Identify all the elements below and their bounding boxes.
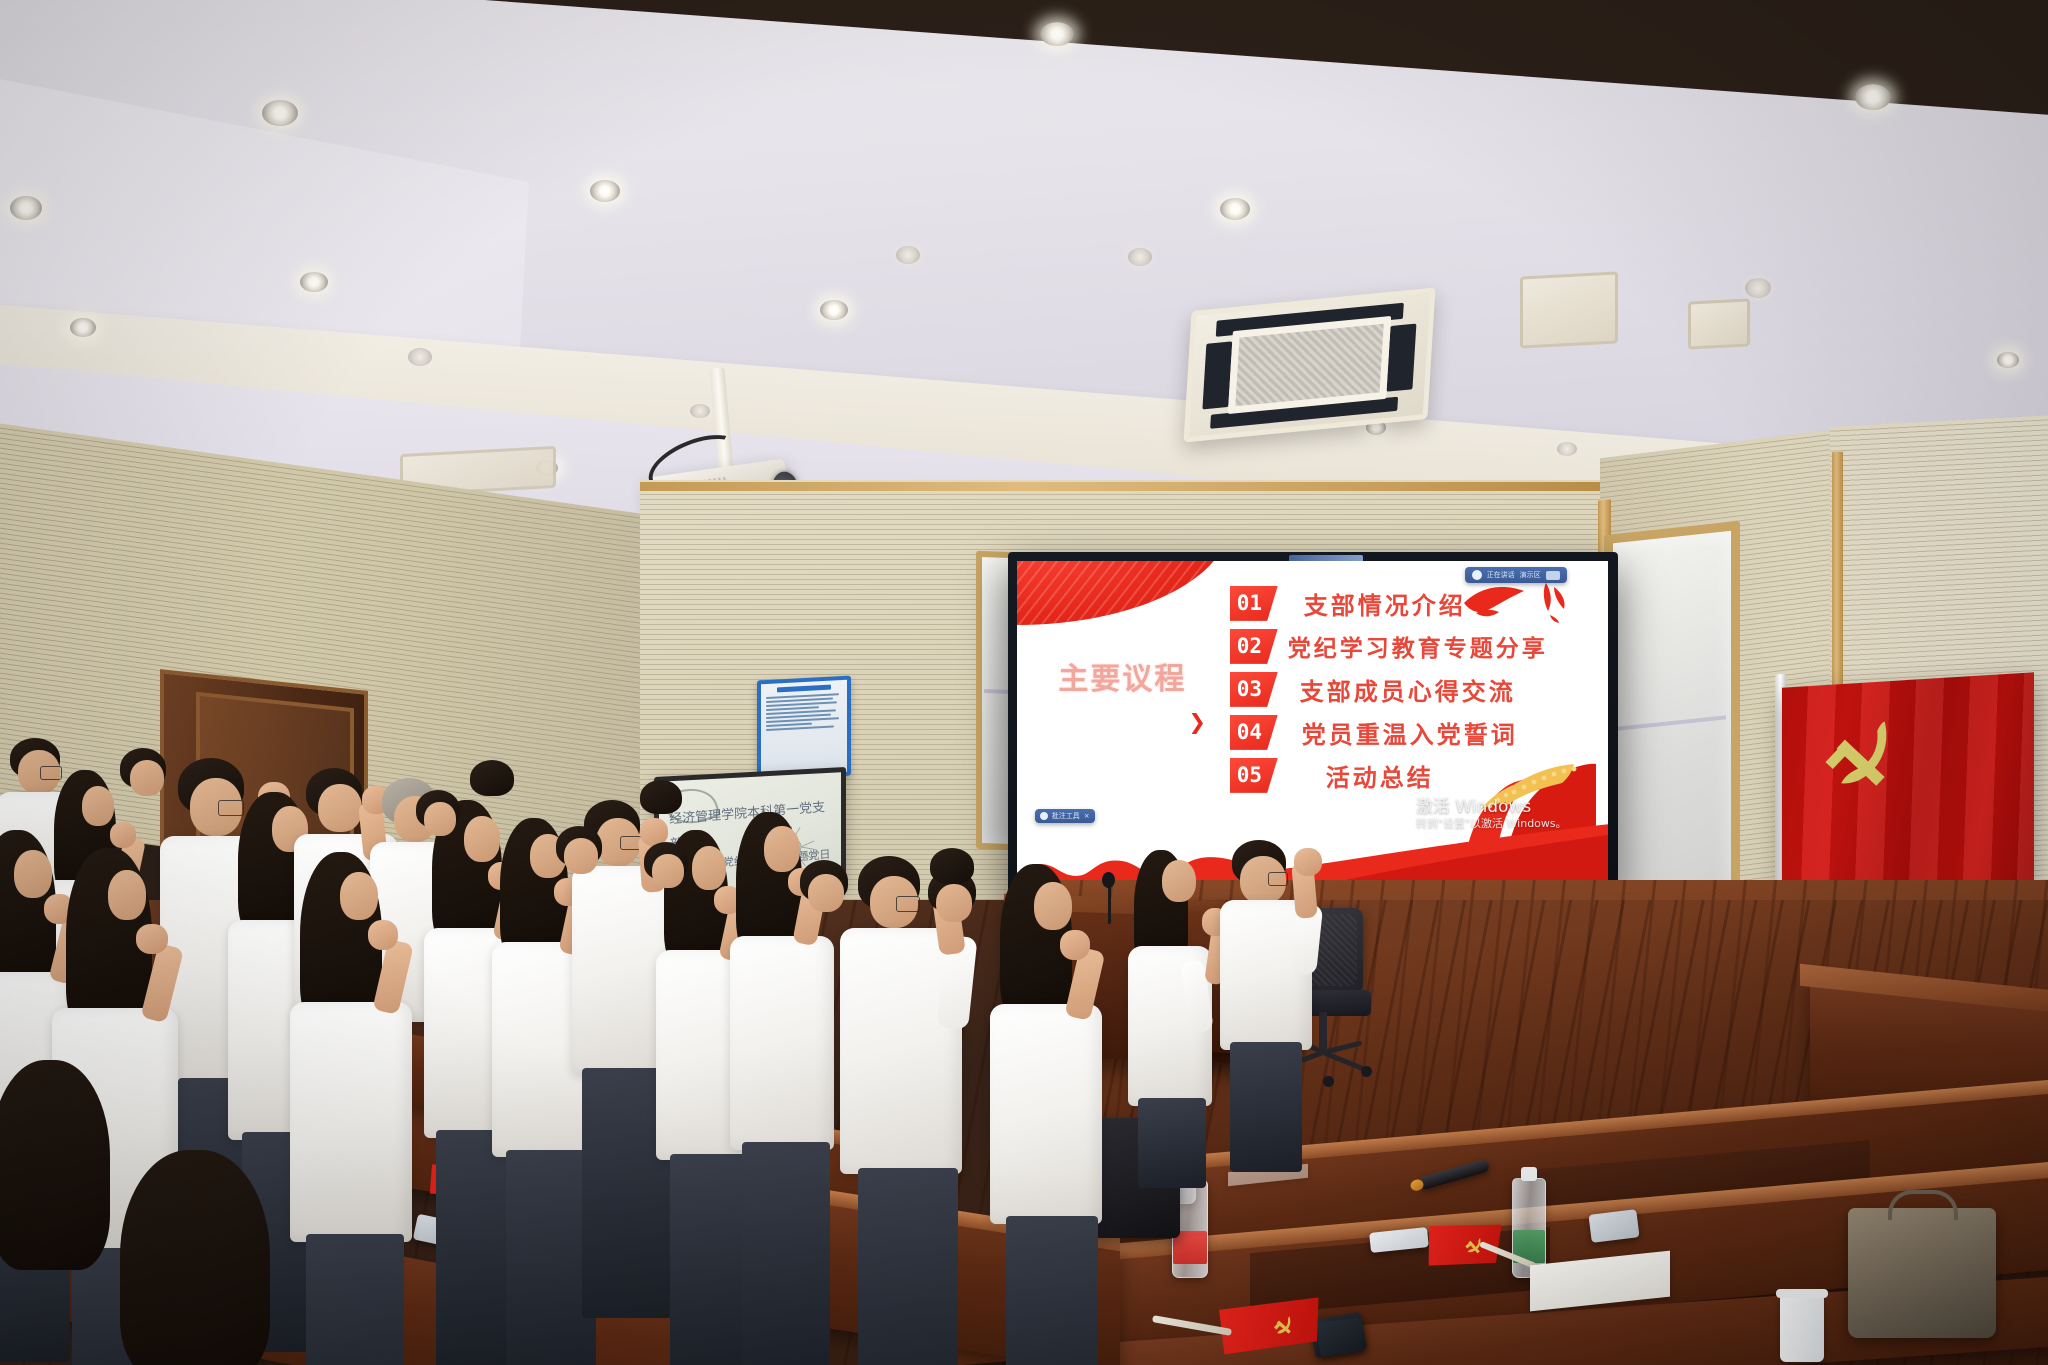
agenda-badge: 04 — [1230, 715, 1278, 750]
slide-heading: 主要议程 — [1058, 660, 1206, 701]
ceiling-downlight — [262, 100, 298, 126]
hair — [0, 1060, 110, 1270]
chair-leg — [1322, 1040, 1362, 1055]
legs — [306, 1234, 404, 1365]
ceiling-downlight — [1855, 84, 1891, 110]
hammer-and-sickle-icon — [1263, 1313, 1304, 1339]
notice-board-title — [777, 685, 832, 693]
chair-gas-post — [1319, 1012, 1327, 1052]
ac-vent — [1387, 323, 1417, 391]
led-presentation-screen[interactable]: 主要议程 ❯ 01 支部情况介绍 02 党纪学习教育专题分享 — [1008, 552, 1618, 892]
ceiling-downlight — [1040, 22, 1074, 46]
legs — [742, 1142, 830, 1365]
watermark-line-1: 激活 Windows — [1416, 798, 1567, 817]
ceiling-downlight — [820, 300, 848, 320]
notice-board — [757, 676, 851, 781]
ac-vent — [1202, 341, 1232, 409]
ceiling-speaker — [1520, 271, 1618, 348]
paper-cup[interactable] — [1780, 1296, 1824, 1362]
party-flag — [1782, 672, 2034, 897]
ceiling-downlight — [408, 348, 432, 366]
raised-fist — [136, 924, 168, 954]
head — [692, 846, 726, 890]
glasses-icon — [1268, 872, 1288, 886]
agenda-item: 03 支部成员心得交流 — [1230, 669, 1585, 709]
backpack-handle — [1888, 1190, 1958, 1220]
ceiling-downlight — [1557, 442, 1577, 456]
hair — [930, 848, 974, 884]
torso-white-shirt — [990, 1004, 1102, 1224]
toolbar-mic-label[interactable]: 正在讲话 — [1487, 570, 1515, 580]
mini-party-flag[interactable] — [1219, 1297, 1322, 1354]
hammer-and-sickle-icon — [1807, 709, 1918, 808]
slide-canvas: 主要议程 ❯ 01 支部情况介绍 02 党纪学习教育专题分享 — [1017, 561, 1608, 881]
annotation-toolbar[interactable]: 批注工具 × — [1035, 809, 1095, 823]
ceiling-downlight — [590, 180, 620, 202]
smartphone[interactable] — [1316, 1317, 1366, 1357]
head — [1162, 860, 1196, 902]
agenda-label: 党员重温入党誓词 — [1302, 715, 1518, 750]
agenda-label: 党纪学习教育专题分享 — [1288, 629, 1548, 663]
ceiling-downlight — [690, 404, 710, 418]
legs — [858, 1168, 958, 1365]
ceiling-downlight — [1220, 198, 1250, 220]
ceiling-speaker — [1688, 298, 1750, 349]
head — [82, 786, 114, 826]
glasses-icon — [40, 766, 62, 780]
glasses-icon — [896, 896, 920, 912]
microphone-icon[interactable] — [1472, 570, 1482, 580]
head — [130, 760, 164, 796]
glasses-icon — [218, 800, 244, 816]
agenda-item: 01 支部情况介绍 — [1230, 583, 1585, 623]
head — [318, 784, 362, 832]
backpack[interactable] — [1848, 1208, 1996, 1338]
legs — [1138, 1098, 1206, 1188]
pen-icon[interactable] — [1040, 812, 1048, 820]
legs — [1006, 1216, 1098, 1365]
raised-fist — [110, 822, 136, 848]
slide-red-top-decoration — [1017, 561, 1230, 625]
ceiling-downlight — [1745, 278, 1771, 298]
head — [564, 838, 598, 874]
agenda-badge: 05 — [1230, 758, 1278, 793]
raised-fist — [368, 920, 398, 950]
agenda-badge: 03 — [1230, 672, 1278, 707]
torso-white-shirt — [730, 936, 834, 1150]
raised-fist — [1060, 930, 1090, 960]
windows-activation-watermark: 激活 Windows 转到"设置"以激活 Windows。 — [1416, 798, 1567, 830]
chair-wheel — [1361, 1066, 1372, 1077]
cup-lid — [1776, 1289, 1827, 1298]
hair — [120, 1150, 270, 1365]
agenda-label: 活动总结 — [1326, 758, 1434, 793]
smartphone[interactable] — [1588, 1209, 1639, 1243]
head — [424, 802, 456, 836]
ceiling-downlight — [896, 246, 920, 264]
annotation-toolbar-label[interactable]: 批注工具 — [1052, 811, 1080, 821]
ceiling-downlight — [70, 318, 96, 337]
close-icon[interactable]: × — [1084, 812, 1090, 820]
chair-wheel — [1323, 1076, 1334, 1087]
agenda-badge: 01 — [1230, 586, 1278, 621]
slide-heading-arrow: ❯ — [1188, 710, 1206, 735]
head — [14, 850, 52, 898]
agenda-item: 04 党员重温入党誓词 — [1230, 712, 1585, 752]
head — [764, 826, 800, 872]
head — [1034, 882, 1072, 930]
ac-filter-grille — [1227, 316, 1391, 414]
raised-fist — [1294, 848, 1322, 876]
head — [340, 872, 378, 920]
chevron-down-icon[interactable] — [1546, 571, 1560, 580]
head — [936, 884, 972, 922]
ceiling-downlight — [300, 272, 328, 292]
ceiling-air-conditioner — [1184, 288, 1436, 443]
ceiling-downlight — [1997, 352, 2019, 368]
legs — [1230, 1042, 1302, 1172]
ceiling-downlight — [1128, 248, 1152, 266]
head — [108, 870, 146, 920]
ceiling-downlight — [10, 196, 42, 220]
torso-white-shirt — [290, 1002, 412, 1242]
agenda-label: 支部成员心得交流 — [1300, 672, 1516, 707]
wall-trim-horizontal — [640, 482, 1600, 491]
presentation-mic-toolbar[interactable]: 正在讲话 演示区 — [1465, 567, 1567, 583]
podium-microphone-head — [1102, 872, 1115, 888]
head — [652, 854, 684, 888]
agenda-label: 支部情况介绍 — [1304, 586, 1466, 621]
bottle-cap — [1521, 1167, 1538, 1181]
watermark-line-2: 转到"设置"以激活 Windows。 — [1416, 817, 1567, 830]
hair — [470, 760, 514, 796]
hair — [640, 780, 682, 814]
agenda-item: 02 党纪学习教育专题分享 — [1230, 626, 1585, 666]
conference-room-photo: 经济管理学院本科第一党支部 "学条例 学党纪" 研究生主题党日活动 主要议程 ❯ — [0, 0, 2048, 1365]
toolbar-menu-label[interactable]: 演示区 — [1520, 570, 1541, 580]
head — [808, 874, 844, 912]
head — [464, 816, 500, 862]
agenda-badge: 02 — [1230, 629, 1278, 664]
